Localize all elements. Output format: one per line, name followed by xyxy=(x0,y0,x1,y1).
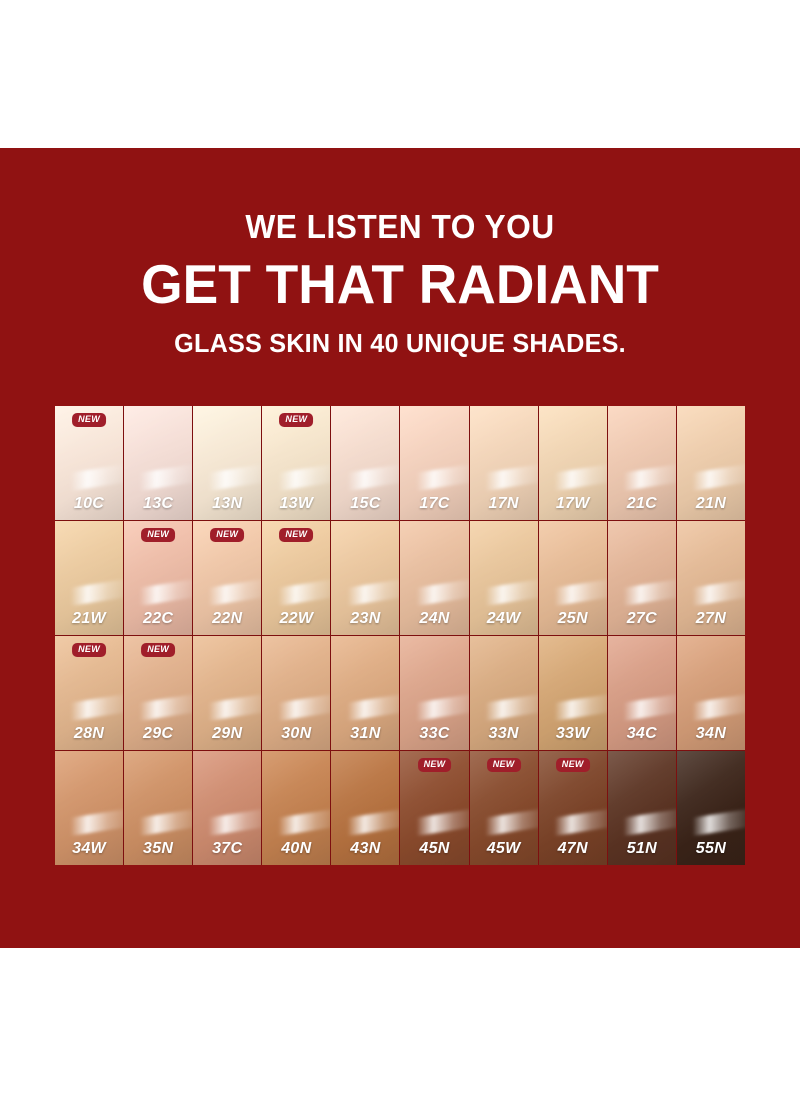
swatch-sheen-streak xyxy=(608,579,676,610)
shade-swatch[interactable]: NEW45N xyxy=(400,751,468,865)
swatch-sheen-streak xyxy=(124,464,192,495)
shade-swatch[interactable]: 24N xyxy=(400,521,468,635)
shade-swatch[interactable]: 17W xyxy=(539,406,607,520)
swatch-sheen-streak xyxy=(539,464,607,495)
swatch-sheen-streak xyxy=(539,809,607,840)
swatch-sheen-streak xyxy=(400,809,468,840)
shade-swatch[interactable]: NEW29C xyxy=(124,636,192,750)
shade-label: 28N xyxy=(55,725,123,743)
new-badge: NEW xyxy=(418,758,452,772)
shade-swatch[interactable]: 25N xyxy=(539,521,607,635)
shade-swatch[interactable]: 40N xyxy=(262,751,330,865)
eyebrow-text: WE LISTEN TO YOU xyxy=(16,210,784,243)
shade-label: 33C xyxy=(400,725,468,743)
shade-label: 29N xyxy=(193,725,261,743)
shade-label: 33W xyxy=(539,725,607,743)
swatch-sheen-streak xyxy=(470,809,538,840)
shade-swatch[interactable]: 15C xyxy=(331,406,399,520)
shade-label: 31N xyxy=(331,725,399,743)
shade-label: 22N xyxy=(193,610,261,628)
swatch-sheen-streak xyxy=(55,809,123,840)
swatch-sheen-streak xyxy=(539,579,607,610)
swatch-sheen-streak xyxy=(193,694,261,725)
swatch-sheen-streak xyxy=(262,579,330,610)
new-badge: NEW xyxy=(141,528,175,542)
shade-swatch[interactable]: 17C xyxy=(400,406,468,520)
shade-label: 22C xyxy=(124,610,192,628)
shade-label: 10C xyxy=(55,495,123,513)
swatch-sheen-streak xyxy=(262,694,330,725)
shade-swatch[interactable]: 43N xyxy=(331,751,399,865)
shade-label: 29C xyxy=(124,725,192,743)
shade-swatch[interactable]: NEW45W xyxy=(470,751,538,865)
shade-swatch-grid: NEW10C13C13NNEW13W15C17C17N17W21C21N21WN… xyxy=(55,406,745,865)
swatch-sheen-streak xyxy=(470,464,538,495)
shade-swatch[interactable]: 30N xyxy=(262,636,330,750)
shade-swatch[interactable]: NEW22C xyxy=(124,521,192,635)
shade-label: 21N xyxy=(677,495,745,513)
swatch-sheen-streak xyxy=(55,694,123,725)
shade-label: 27N xyxy=(677,610,745,628)
new-badge: NEW xyxy=(72,643,106,657)
shade-swatch[interactable]: 23N xyxy=(331,521,399,635)
shade-label: 43N xyxy=(331,840,399,858)
shade-label: 24N xyxy=(400,610,468,628)
swatch-sheen-streak xyxy=(677,579,745,610)
shade-label: 13C xyxy=(124,495,192,513)
shade-swatch[interactable]: 33W xyxy=(539,636,607,750)
shade-swatch[interactable]: NEW22W xyxy=(262,521,330,635)
shade-label: 45W xyxy=(470,840,538,858)
new-badge: NEW xyxy=(210,528,244,542)
new-badge: NEW xyxy=(279,413,313,427)
swatch-sheen-streak xyxy=(608,464,676,495)
shade-swatch[interactable]: 34C xyxy=(608,636,676,750)
shade-swatch[interactable]: 34W xyxy=(55,751,123,865)
shade-label: 22W xyxy=(262,610,330,628)
shade-label: 40N xyxy=(262,840,330,858)
swatch-sheen-streak xyxy=(124,809,192,840)
swatch-sheen-streak xyxy=(400,694,468,725)
shade-label: 13N xyxy=(193,495,261,513)
swatch-sheen-streak xyxy=(331,694,399,725)
swatch-sheen-streak xyxy=(124,579,192,610)
swatch-sheen-streak xyxy=(262,464,330,495)
shade-label: 23N xyxy=(331,610,399,628)
shade-swatch[interactable]: 33N xyxy=(470,636,538,750)
shade-swatch[interactable]: 21C xyxy=(608,406,676,520)
swatch-sheen-streak xyxy=(677,464,745,495)
shade-swatch[interactable]: 33C xyxy=(400,636,468,750)
shade-label: 21C xyxy=(608,495,676,513)
shade-swatch[interactable]: NEW28N xyxy=(55,636,123,750)
shade-swatch[interactable]: NEW10C xyxy=(55,406,123,520)
shade-swatch[interactable]: 24W xyxy=(470,521,538,635)
swatch-sheen-streak xyxy=(262,809,330,840)
shade-label: 17C xyxy=(400,495,468,513)
swatch-sheen-streak xyxy=(55,464,123,495)
new-badge: NEW xyxy=(556,758,590,772)
shade-label: 17N xyxy=(470,495,538,513)
new-badge: NEW xyxy=(487,758,521,772)
swatch-sheen-streak xyxy=(331,579,399,610)
new-badge: NEW xyxy=(72,413,106,427)
swatch-sheen-streak xyxy=(400,579,468,610)
shade-swatch[interactable]: 29N xyxy=(193,636,261,750)
shade-label: 45N xyxy=(400,840,468,858)
headline-block: WE LISTEN TO YOU GET THAT RADIANT GLASS … xyxy=(0,210,800,356)
swatch-sheen-streak xyxy=(124,694,192,725)
shade-swatch[interactable]: NEW47N xyxy=(539,751,607,865)
shade-swatch[interactable]: 27N xyxy=(677,521,745,635)
shade-swatch[interactable]: 13C xyxy=(124,406,192,520)
swatch-sheen-streak xyxy=(470,694,538,725)
shade-swatch[interactable]: 13N xyxy=(193,406,261,520)
shade-label: 30N xyxy=(262,725,330,743)
shade-label: 34C xyxy=(608,725,676,743)
shade-label: 37C xyxy=(193,840,261,858)
shade-swatch[interactable]: 31N xyxy=(331,636,399,750)
shade-label: 24W xyxy=(470,610,538,628)
shade-swatch[interactable]: 17N xyxy=(470,406,538,520)
swatch-sheen-streak xyxy=(677,694,745,725)
shade-swatch[interactable]: 51N xyxy=(608,751,676,865)
shade-label: 34W xyxy=(55,840,123,858)
swatch-sheen-streak xyxy=(55,579,123,610)
swatch-sheen-streak xyxy=(539,694,607,725)
swatch-sheen-streak xyxy=(677,809,745,840)
swatch-sheen-streak xyxy=(608,809,676,840)
new-badge: NEW xyxy=(279,528,313,542)
shade-swatch[interactable]: 21N xyxy=(677,406,745,520)
page-title: GET THAT RADIANT xyxy=(12,257,788,312)
swatch-sheen-streak xyxy=(470,579,538,610)
swatch-sheen-streak xyxy=(331,464,399,495)
shade-label: 51N xyxy=(608,840,676,858)
swatch-sheen-streak xyxy=(608,694,676,725)
shade-label: 47N xyxy=(539,840,607,858)
shade-label: 34N xyxy=(677,725,745,743)
shade-swatch[interactable]: 37C xyxy=(193,751,261,865)
shade-swatch[interactable]: 35N xyxy=(124,751,192,865)
shade-label: 25N xyxy=(539,610,607,628)
shade-swatch[interactable]: NEW13W xyxy=(262,406,330,520)
shade-label: 35N xyxy=(124,840,192,858)
shade-swatch[interactable]: NEW22N xyxy=(193,521,261,635)
shade-label: 55N xyxy=(677,840,745,858)
swatch-sheen-streak xyxy=(193,464,261,495)
promo-panel: WE LISTEN TO YOU GET THAT RADIANT GLASS … xyxy=(0,148,800,948)
swatch-sheen-streak xyxy=(400,464,468,495)
shade-label: 17W xyxy=(539,495,607,513)
shade-swatch[interactable]: 27C xyxy=(608,521,676,635)
shade-label: 27C xyxy=(608,610,676,628)
swatch-sheen-streak xyxy=(193,579,261,610)
shade-label: 13W xyxy=(262,495,330,513)
swatch-sheen-streak xyxy=(193,809,261,840)
new-badge: NEW xyxy=(141,643,175,657)
shade-label: 21W xyxy=(55,610,123,628)
swatch-sheen-streak xyxy=(331,809,399,840)
shade-label: 15C xyxy=(331,495,399,513)
shade-swatch[interactable]: 55N xyxy=(677,751,745,865)
shade-swatch[interactable]: 21W xyxy=(55,521,123,635)
shade-swatch[interactable]: 34N xyxy=(677,636,745,750)
subheadline-text: GLASS SKIN IN 40 UNIQUE SHADES. xyxy=(12,330,788,356)
shade-label: 33N xyxy=(470,725,538,743)
